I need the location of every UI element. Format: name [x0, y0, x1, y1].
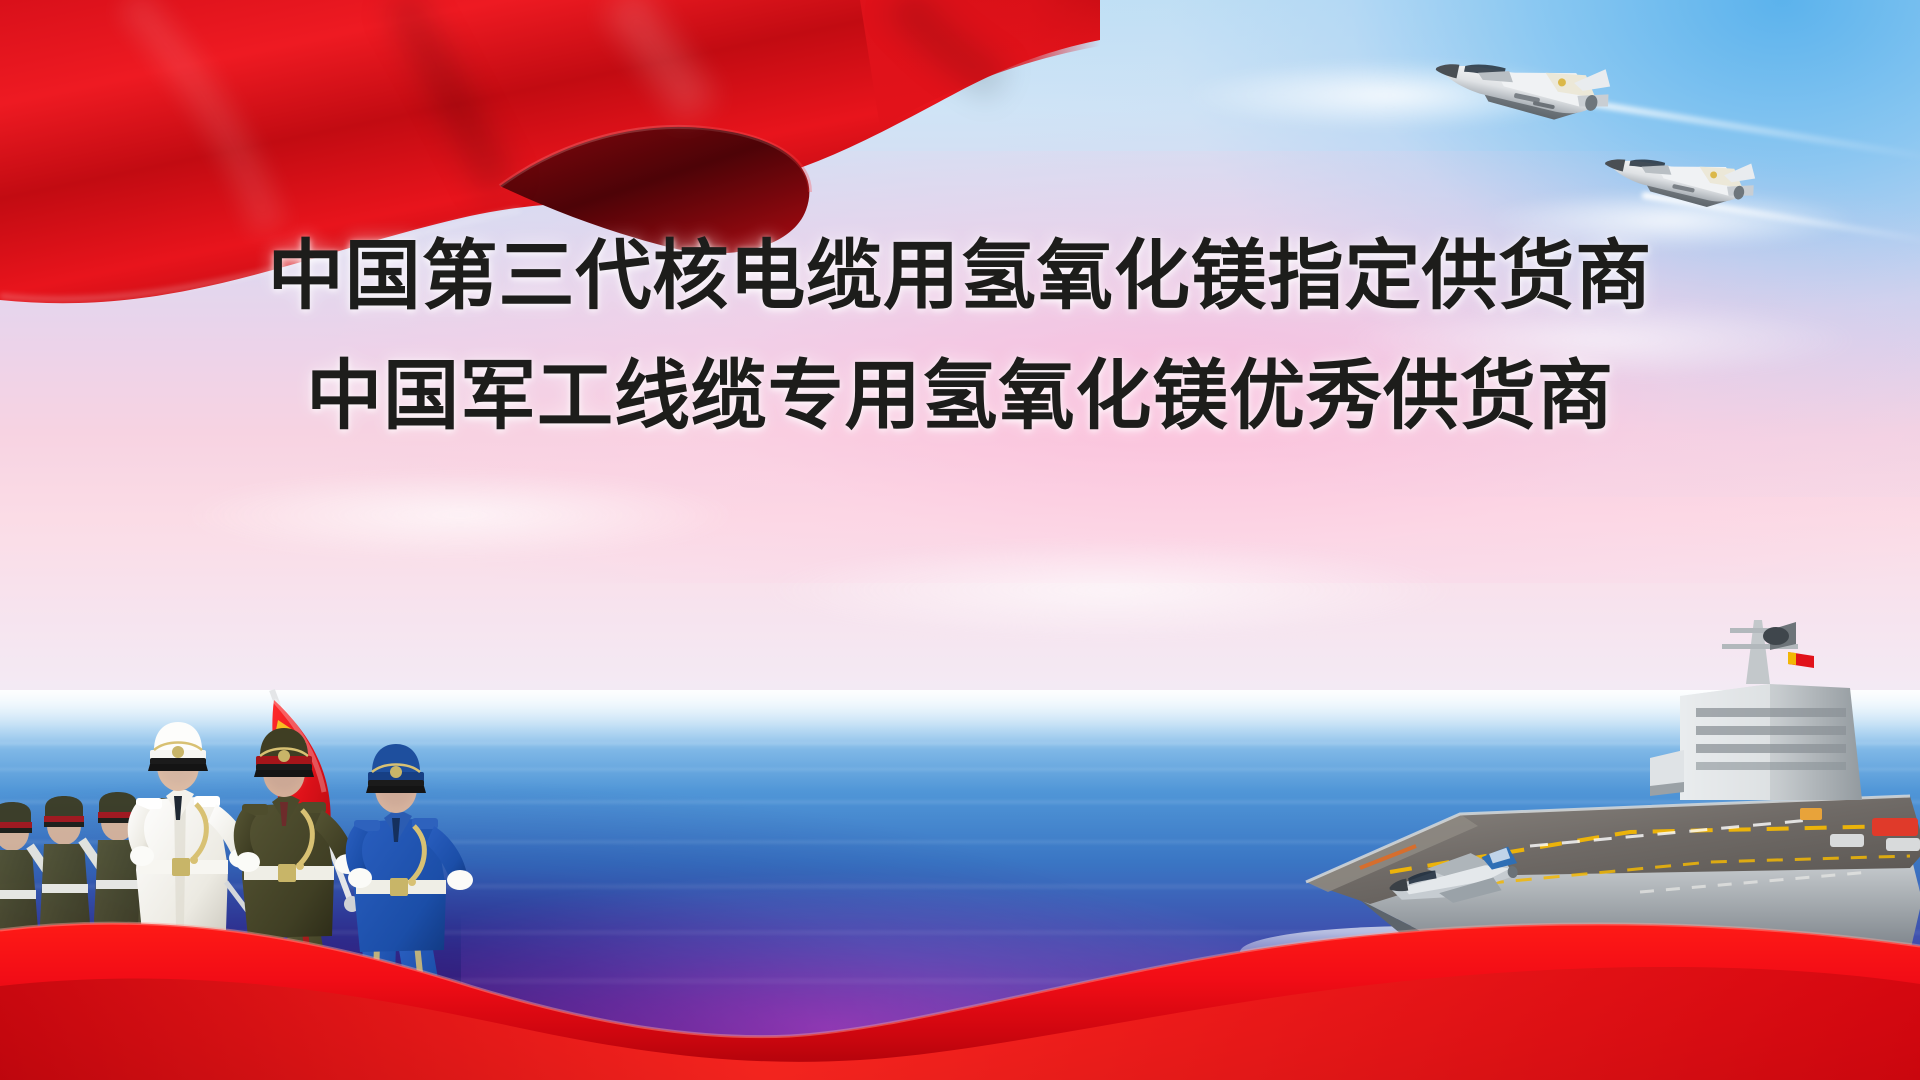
carrier-island: [1650, 620, 1862, 800]
fighter-jet: [1430, 42, 1610, 152]
fighter-jet: [1600, 140, 1755, 235]
cloud-shape: [180, 470, 740, 560]
red-ribbon-foreground: [0, 890, 1920, 1080]
cloud-shape: [1340, 300, 1860, 380]
banner-root: 中国第三代核电缆用氢氧化镁指定供货商 中国军工线缆专用氢氧化镁优秀供货商: [0, 0, 1920, 1080]
red-silk-flag: [0, 0, 1100, 330]
